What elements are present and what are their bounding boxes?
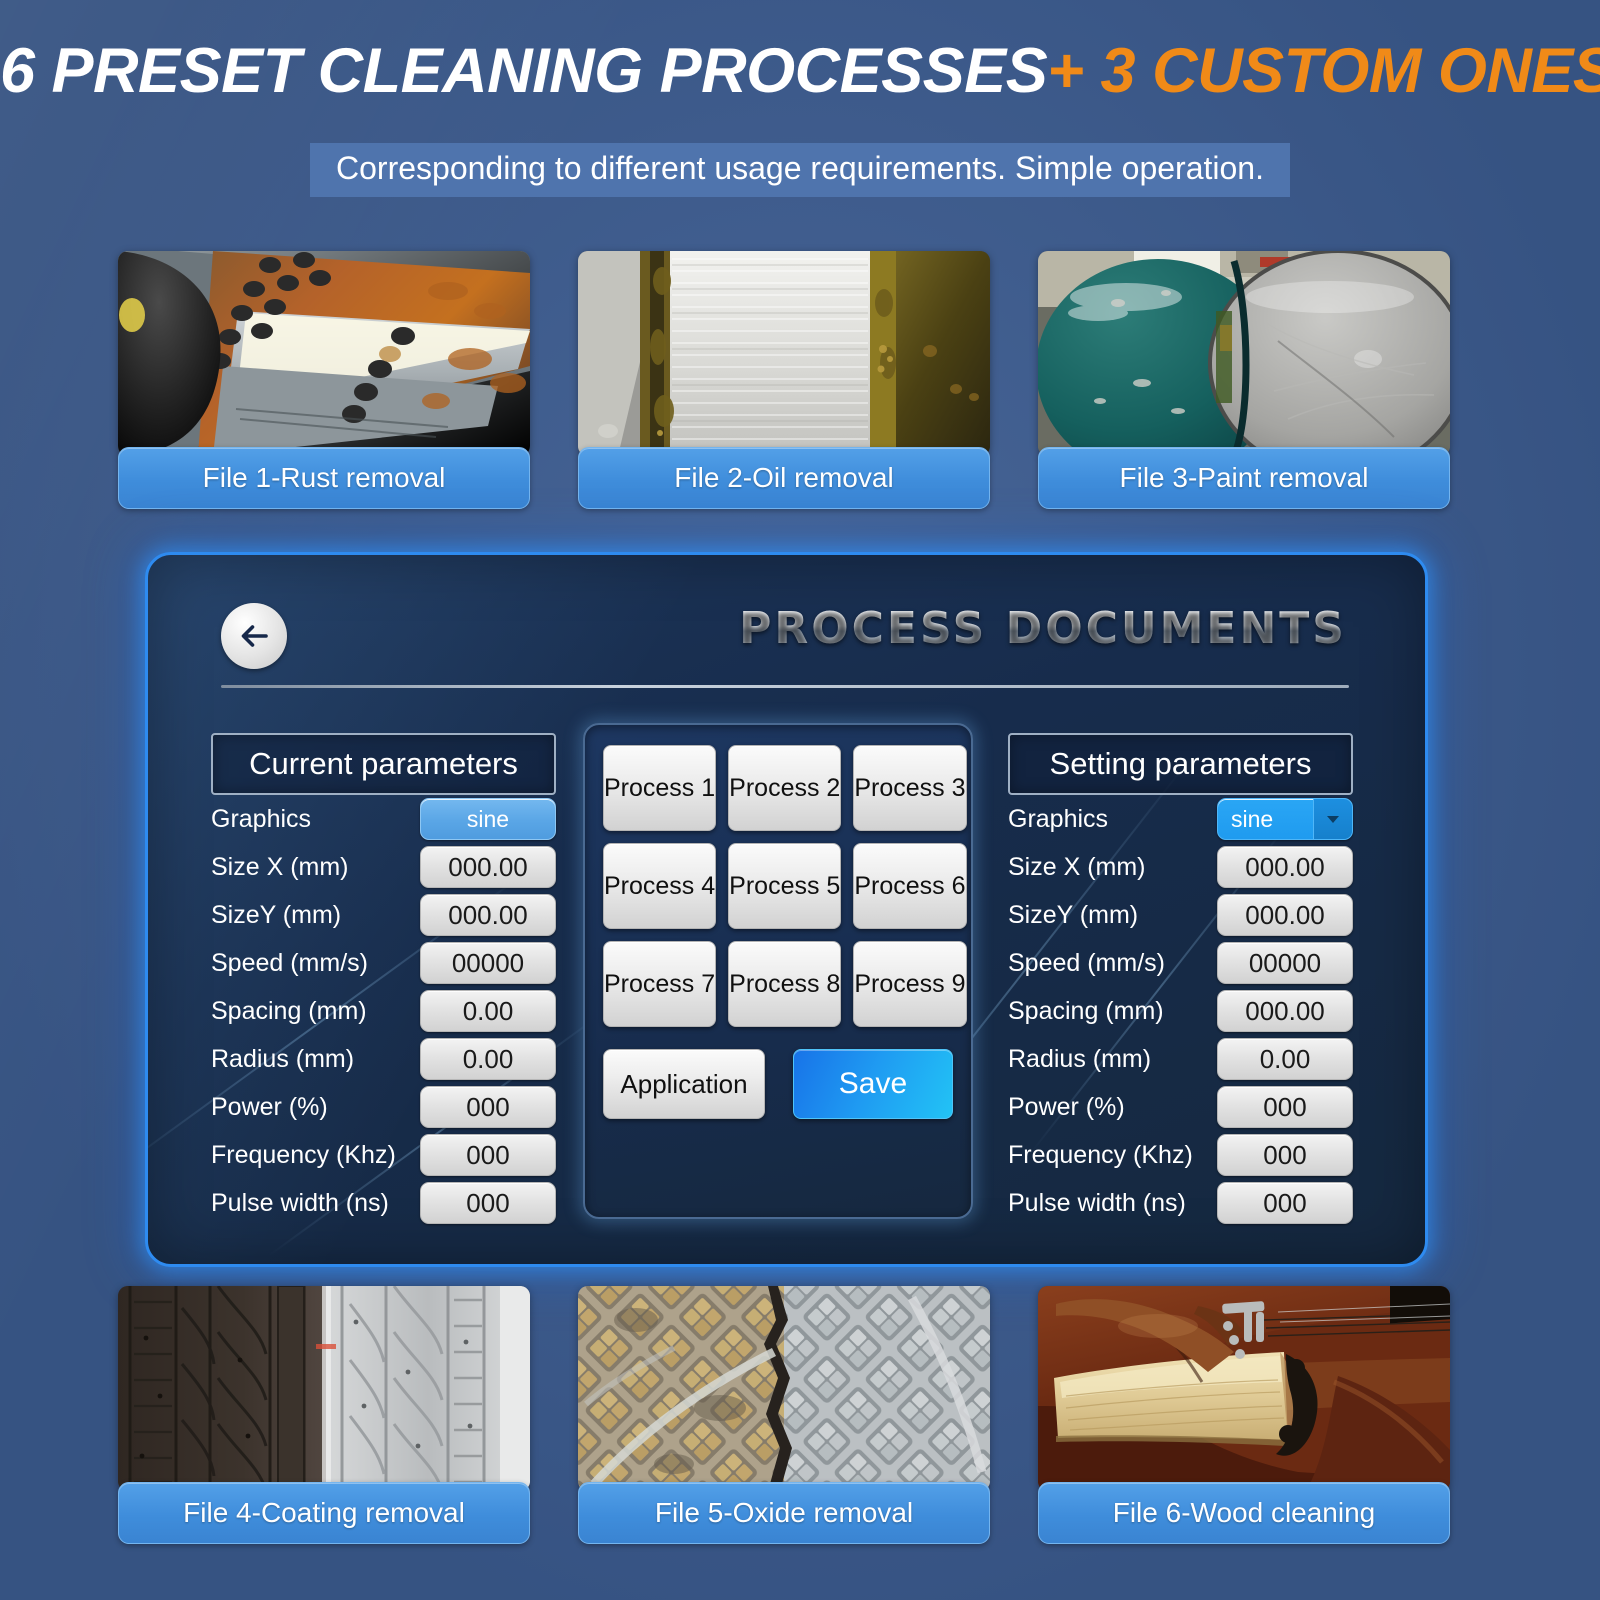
paint-removal-illustration [1038, 251, 1450, 456]
file-card-2[interactable]: File 2-Oil removal [578, 251, 990, 509]
param-label: Pulse width (ns) [211, 1189, 389, 1218]
process-button-3[interactable]: Process 3 [853, 745, 966, 831]
page-title: 6 PRESET CLEANING PROCESSES+ 3 CUSTOM ON… [0, 38, 1600, 104]
file-card-4-label: File 4-Coating removal [183, 1497, 465, 1529]
current-parameters-header: Current parameters [211, 733, 556, 795]
param-value[interactable]: 0.00 [1217, 1038, 1353, 1080]
file-card-1-button[interactable]: File 1-Rust removal [118, 447, 530, 509]
param-value: 0.00 [420, 1038, 556, 1080]
param-label: Radius (mm) [211, 1045, 354, 1074]
coating-removal-illustration [118, 1286, 530, 1491]
process-button-8[interactable]: Process 8 [728, 941, 841, 1027]
param-value[interactable]: 000 [1217, 1086, 1353, 1128]
paint-removal-photo [1038, 251, 1450, 456]
oil-removal-illustration [578, 251, 990, 456]
param-label: Speed (mm/s) [1008, 949, 1165, 978]
current-parameters-column: Current parameters Graphics sine Size X … [211, 733, 556, 1227]
oxide-removal-illustration [578, 1286, 990, 1491]
param-label: SizeY (mm) [211, 901, 341, 930]
param-value: 0.00 [420, 990, 556, 1032]
param-label: Graphics [1008, 805, 1108, 834]
file-card-2-label: File 2-Oil removal [674, 462, 893, 494]
param-label: Frequency (Khz) [211, 1141, 396, 1170]
oxide-removal-photo [578, 1286, 990, 1491]
graphics-dropdown-setting[interactable]: sine [1217, 798, 1353, 840]
param-row-power-setting: Power (%) 000 [1008, 1083, 1353, 1131]
param-row-spacing-current: Spacing (mm) 0.00 [211, 987, 556, 1035]
coating-removal-photo [118, 1286, 530, 1491]
file-card-2-button[interactable]: File 2-Oil removal [578, 447, 990, 509]
process-button-2[interactable]: Process 2 [728, 745, 841, 831]
process-button-1[interactable]: Process 1 [603, 745, 716, 831]
param-label: Graphics [211, 805, 311, 834]
param-label: Spacing (mm) [1008, 997, 1164, 1026]
process-button-7[interactable]: Process 7 [603, 941, 716, 1027]
process-button-9[interactable]: Process 9 [853, 941, 966, 1027]
param-label: Power (%) [1008, 1093, 1125, 1122]
file-card-5-button[interactable]: File 5-Oxide removal [578, 1482, 990, 1544]
file-card-5[interactable]: File 5-Oxide removal [578, 1286, 990, 1544]
param-row-pulsewidth-setting: Pulse width (ns) 000 [1008, 1179, 1353, 1227]
param-value[interactable]: 000.00 [1217, 990, 1353, 1032]
param-value: 000.00 [420, 846, 556, 888]
back-button[interactable] [221, 603, 287, 669]
param-row-pulsewidth-current: Pulse width (ns) 000 [211, 1179, 556, 1227]
process-documents-panel: PROCESS DOCUMENTS Current parameters Gra… [145, 552, 1428, 1267]
subtitle: Corresponding to different usage require… [310, 143, 1290, 197]
param-value: 000.00 [420, 894, 556, 936]
file-card-4-button[interactable]: File 4-Coating removal [118, 1482, 530, 1544]
param-value[interactable]: 000 [1217, 1134, 1353, 1176]
param-value[interactable]: 000.00 [1217, 894, 1353, 936]
file-card-4[interactable]: File 4-Coating removal [118, 1286, 530, 1544]
param-row-sizey-setting: SizeY (mm) 000.00 [1008, 891, 1353, 939]
subtitle-container: Corresponding to different usage require… [0, 143, 1600, 197]
file-card-6-label: File 6-Wood cleaning [1113, 1497, 1376, 1529]
chevron-down-icon[interactable] [1313, 799, 1352, 839]
process-selection-box: Process 1 Process 2 Process 3 Process 4 … [583, 723, 973, 1219]
panel-divider [221, 685, 1349, 688]
oil-removal-photo [578, 251, 990, 456]
param-value: 000 [420, 1134, 556, 1176]
param-row-frequency-current: Frequency (Khz) 000 [211, 1131, 556, 1179]
param-row-sizey-current: SizeY (mm) 000.00 [211, 891, 556, 939]
param-row-speed-setting: Speed (mm/s) 00000 [1008, 939, 1353, 987]
param-label: Pulse width (ns) [1008, 1189, 1186, 1218]
wood-cleaning-illustration [1038, 1286, 1450, 1491]
param-value[interactable]: 000.00 [1217, 846, 1353, 888]
param-row-power-current: Power (%) 000 [211, 1083, 556, 1131]
process-button-4[interactable]: Process 4 [603, 843, 716, 929]
process-button-5[interactable]: Process 5 [728, 843, 841, 929]
param-value: 000 [420, 1086, 556, 1128]
rust-removal-photo [118, 251, 530, 456]
param-row-sizex-setting: Size X (mm) 000.00 [1008, 843, 1353, 891]
file-card-6-button[interactable]: File 6-Wood cleaning [1038, 1482, 1450, 1544]
graphics-value-current[interactable]: sine [420, 798, 556, 840]
process-actions: Application Save [603, 1049, 953, 1119]
param-label: Speed (mm/s) [211, 949, 368, 978]
rust-removal-illustration [118, 251, 530, 456]
param-value: 000 [420, 1182, 556, 1224]
headline-white: 6 PRESET CLEANING PROCESSES [0, 36, 1047, 106]
file-card-1[interactable]: File 1-Rust removal [118, 251, 530, 509]
chevron-down-glyph [1326, 814, 1340, 824]
param-row-sizex-current: Size X (mm) 000.00 [211, 843, 556, 891]
param-row-radius-current: Radius (mm) 0.00 [211, 1035, 556, 1083]
param-row-frequency-setting: Frequency (Khz) 000 [1008, 1131, 1353, 1179]
param-row-speed-current: Speed (mm/s) 00000 [211, 939, 556, 987]
panel-title: PROCESS DOCUMENTS [739, 603, 1347, 654]
param-label: Power (%) [211, 1093, 328, 1122]
param-row-graphics-current: Graphics sine [211, 795, 556, 843]
application-button[interactable]: Application [603, 1049, 765, 1119]
param-label: Size X (mm) [211, 853, 349, 882]
wood-cleaning-photo [1038, 1286, 1450, 1491]
save-button[interactable]: Save [793, 1049, 953, 1119]
param-row-radius-setting: Radius (mm) 0.00 [1008, 1035, 1353, 1083]
file-card-5-label: File 5-Oxide removal [655, 1497, 913, 1529]
headline-orange: + 3 CUSTOM ONES [1047, 36, 1600, 106]
param-label: Frequency (Khz) [1008, 1141, 1193, 1170]
param-value[interactable]: 000 [1217, 1182, 1353, 1224]
param-value: 00000 [420, 942, 556, 984]
param-value[interactable]: 00000 [1217, 942, 1353, 984]
param-label: Size X (mm) [1008, 853, 1146, 882]
param-row-spacing-setting: Spacing (mm) 000.00 [1008, 987, 1353, 1035]
param-row-graphics-setting: Graphics sine [1008, 795, 1353, 843]
setting-parameters-header: Setting parameters [1008, 733, 1353, 795]
setting-parameters-column: Setting parameters Graphics sine Size X … [1008, 733, 1353, 1227]
graphics-dropdown-value: sine [1231, 806, 1273, 833]
file-card-3-button[interactable]: File 3-Paint removal [1038, 447, 1450, 509]
param-label: SizeY (mm) [1008, 901, 1138, 930]
file-card-1-label: File 1-Rust removal [203, 462, 446, 494]
file-card-6[interactable]: File 6-Wood cleaning [1038, 1286, 1450, 1544]
arrow-left-icon [236, 618, 272, 654]
process-button-6[interactable]: Process 6 [853, 843, 966, 929]
file-card-3-label: File 3-Paint removal [1120, 462, 1369, 494]
param-label: Radius (mm) [1008, 1045, 1151, 1074]
process-grid: Process 1 Process 2 Process 3 Process 4 … [603, 745, 953, 1027]
file-card-3[interactable]: File 3-Paint removal [1038, 251, 1450, 509]
param-label: Spacing (mm) [211, 997, 367, 1026]
